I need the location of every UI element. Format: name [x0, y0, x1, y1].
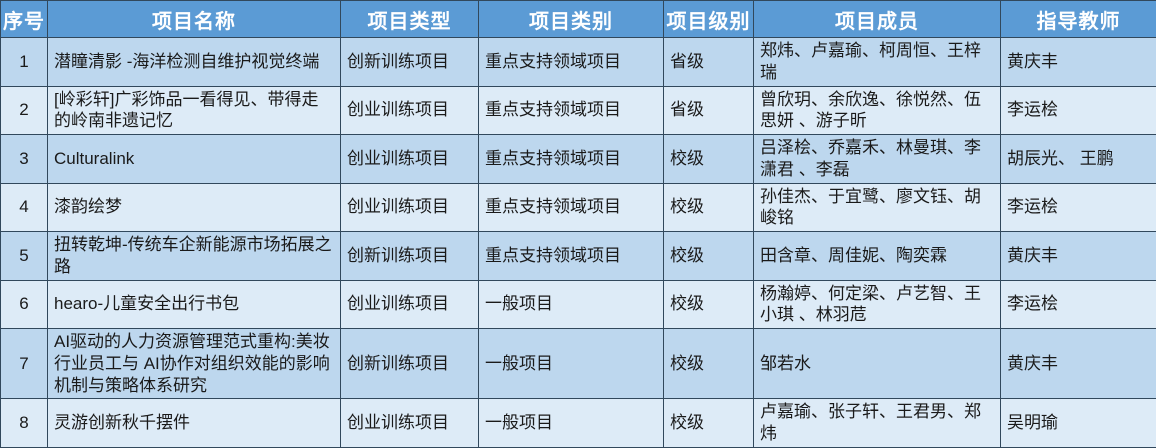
cell-teacher: 李运桧 [1001, 86, 1156, 135]
cell-level: 校级 [664, 399, 754, 448]
cell-members: 郑炜、卢嘉瑜、柯周恒、王梓瑞 [754, 38, 1001, 87]
column-header-name: 项目名称 [48, 1, 341, 38]
cell-category: 重点支持领域项目 [479, 38, 664, 87]
cell-level: 省级 [664, 38, 754, 87]
cell-index: 6 [1, 280, 48, 329]
cell-category: 重点支持领域项目 [479, 183, 664, 232]
column-header-members: 项目成员 [754, 1, 1001, 38]
cell-name: 潜瞳清影 -海洋检测自维护视觉终端 [48, 38, 341, 87]
cell-teacher: 黄庆丰 [1001, 232, 1156, 281]
table-row: 1潜瞳清影 -海洋检测自维护视觉终端创新训练项目重点支持领域项目省级郑炜、卢嘉瑜… [1, 38, 1156, 87]
cell-index: 4 [1, 183, 48, 232]
column-header-level: 项目级别 [664, 1, 754, 38]
cell-name: 漆韵绘梦 [48, 183, 341, 232]
cell-category: 重点支持领域项目 [479, 232, 664, 281]
cell-level: 校级 [664, 183, 754, 232]
cell-members: 曾欣玥、余欣逸、徐悦然、伍思妍 、游子昕 [754, 86, 1001, 135]
cell-members: 卢嘉瑜、张子轩、王君男、郑炜 [754, 399, 1001, 448]
table-row: 8灵游创新秋千摆件创业训练项目一般项目校级卢嘉瑜、张子轩、王君男、郑炜吴明瑜 [1, 399, 1156, 448]
table-row: 3Culturalink创业训练项目重点支持领域项目校级吕泽桧、乔嘉禾、林曼琪、… [1, 135, 1156, 184]
cell-index: 1 [1, 38, 48, 87]
cell-members: 田含章、周佳妮、陶奕霖 [754, 232, 1001, 281]
cell-index: 3 [1, 135, 48, 184]
column-header-index: 序号 [1, 1, 48, 38]
cell-name: hearo-儿童安全出行书包 [48, 280, 341, 329]
cell-type: 创新训练项目 [341, 232, 479, 281]
cell-category: 一般项目 [479, 399, 664, 448]
cell-teacher: 胡辰光、 王鹏 [1001, 135, 1156, 184]
cell-name: AI驱动的人力资源管理范式重构:美妆行业员工与 AI协作对组织效能的影响机制与策… [48, 329, 341, 399]
table-row: 5扭转乾坤-传统车企新能源市场拓展之路创新训练项目重点支持领域项目校级田含章、周… [1, 232, 1156, 281]
cell-type: 创业训练项目 [341, 86, 479, 135]
column-header-teacher: 指导教师 [1001, 1, 1156, 38]
cell-type: 创新训练项目 [341, 38, 479, 87]
cell-members: 吕泽桧、乔嘉禾、林曼琪、李潇君 、李磊 [754, 135, 1001, 184]
cell-type: 创业训练项目 [341, 135, 479, 184]
project-list-table: 序号 项目名称 项目类型 项目类别 项目级别 项目成员 指导教师 1潜瞳清影 -… [0, 0, 1156, 448]
cell-category: 一般项目 [479, 280, 664, 329]
cell-name: 灵游创新秋千摆件 [48, 399, 341, 448]
header-row: 序号 项目名称 项目类型 项目类别 项目级别 项目成员 指导教师 [1, 1, 1156, 38]
cell-teacher: 李运桧 [1001, 280, 1156, 329]
table-row: 4漆韵绘梦创业训练项目重点支持领域项目校级孙佳杰、于宜鹭、廖文钰、胡峻铭李运桧 [1, 183, 1156, 232]
cell-teacher: 黄庆丰 [1001, 329, 1156, 399]
cell-teacher: 黄庆丰 [1001, 38, 1156, 87]
cell-type: 创业训练项目 [341, 183, 479, 232]
cell-name: 扭转乾坤-传统车企新能源市场拓展之路 [48, 232, 341, 281]
table-row: 2[岭彩轩]广彩饰品一看得见、带得走的岭南非遗记忆创业训练项目重点支持领域项目省… [1, 86, 1156, 135]
table-row: 6hearo-儿童安全出行书包创业训练项目一般项目校级杨瀚婷、何定梁、卢艺智、王… [1, 280, 1156, 329]
cell-index: 8 [1, 399, 48, 448]
cell-type: 创业训练项目 [341, 280, 479, 329]
cell-members: 孙佳杰、于宜鹭、廖文钰、胡峻铭 [754, 183, 1001, 232]
column-header-type: 项目类型 [341, 1, 479, 38]
cell-name: [岭彩轩]广彩饰品一看得见、带得走的岭南非遗记忆 [48, 86, 341, 135]
cell-index: 2 [1, 86, 48, 135]
cell-name: Culturalink [48, 135, 341, 184]
cell-teacher: 吴明瑜 [1001, 399, 1156, 448]
cell-level: 校级 [664, 280, 754, 329]
table-body: 1潜瞳清影 -海洋检测自维护视觉终端创新训练项目重点支持领域项目省级郑炜、卢嘉瑜… [1, 38, 1156, 448]
cell-category: 重点支持领域项目 [479, 86, 664, 135]
cell-level: 校级 [664, 232, 754, 281]
cell-teacher: 李运桧 [1001, 183, 1156, 232]
cell-type: 创新训练项目 [341, 329, 479, 399]
cell-category: 重点支持领域项目 [479, 135, 664, 184]
table-header: 序号 项目名称 项目类型 项目类别 项目级别 项目成员 指导教师 [1, 1, 1156, 38]
column-header-category: 项目类别 [479, 1, 664, 38]
cell-index: 5 [1, 232, 48, 281]
cell-level: 省级 [664, 86, 754, 135]
cell-category: 一般项目 [479, 329, 664, 399]
cell-level: 校级 [664, 329, 754, 399]
cell-members: 邹若水 [754, 329, 1001, 399]
cell-index: 7 [1, 329, 48, 399]
cell-level: 校级 [664, 135, 754, 184]
cell-members: 杨瀚婷、何定梁、卢艺智、王小琪 、林羽苊 [754, 280, 1001, 329]
table-row: 7AI驱动的人力资源管理范式重构:美妆行业员工与 AI协作对组织效能的影响机制与… [1, 329, 1156, 399]
cell-type: 创业训练项目 [341, 399, 479, 448]
